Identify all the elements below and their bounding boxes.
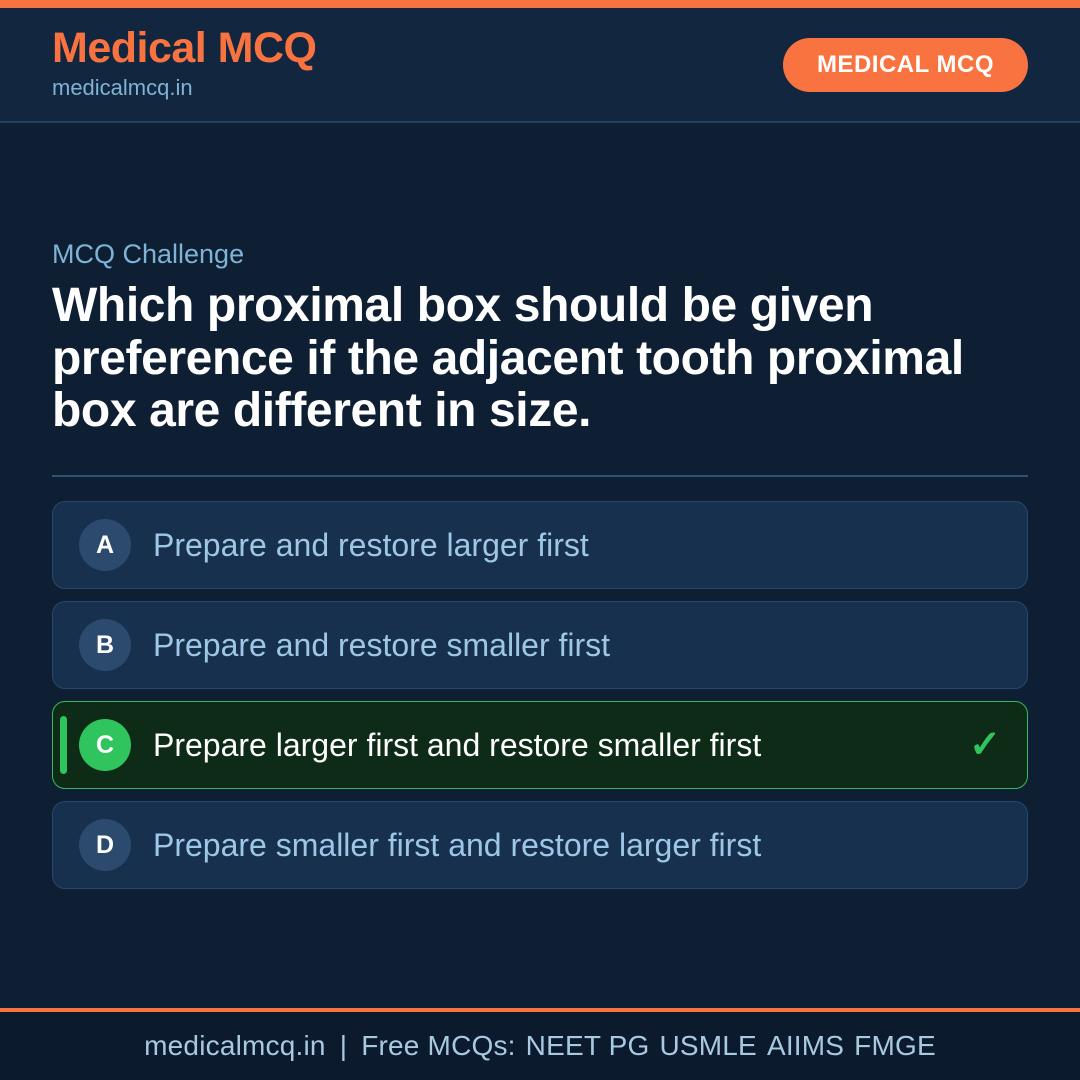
- eyebrow-label: MCQ Challenge: [52, 238, 1028, 270]
- footer-exams: NEET PGUSMLEAIIMSFMGE: [516, 1030, 936, 1061]
- option-label: Prepare larger first and restore smaller…: [153, 726, 953, 764]
- option-row-b[interactable]: B Prepare and restore smaller first ✓: [52, 601, 1028, 689]
- brand-block: Medical MCQ medicalmcq.in: [52, 26, 317, 103]
- footer-text: medicalmcq.in|Free MCQs:NEET PGUSMLEAIIM…: [144, 1030, 936, 1062]
- footer-exam-neetpg[interactable]: NEET PG: [526, 1030, 650, 1061]
- option-letter-badge: A: [79, 519, 131, 571]
- correct-accent-bar: [60, 716, 67, 774]
- footer-site[interactable]: medicalmcq.in: [144, 1030, 326, 1061]
- options-list: A Prepare and restore larger first ✓ B P…: [52, 501, 1028, 889]
- option-row-c[interactable]: C Prepare larger first and restore small…: [52, 701, 1028, 789]
- check-icon: ✓: [969, 726, 1001, 764]
- mcq-card: Medical MCQ medicalmcq.in MEDICAL MCQ MC…: [0, 0, 1080, 1080]
- question-divider: [52, 475, 1028, 477]
- option-row-a[interactable]: A Prepare and restore larger first ✓: [52, 501, 1028, 589]
- footer-exam-fmge[interactable]: FMGE: [854, 1030, 936, 1061]
- footer-exam-usmle[interactable]: USMLE: [659, 1030, 756, 1061]
- option-letter-badge: C: [79, 719, 131, 771]
- brand-title: Medical MCQ: [52, 26, 317, 71]
- option-label: Prepare smaller first and restore larger…: [153, 826, 953, 864]
- footer-separator: |: [326, 1030, 361, 1061]
- footer-exam-aiims[interactable]: AIIMS: [767, 1030, 844, 1061]
- brand-url: medicalmcq.in: [52, 73, 317, 103]
- header: Medical MCQ medicalmcq.in MEDICAL MCQ: [0, 8, 1080, 123]
- option-label: Prepare and restore larger first: [153, 526, 953, 564]
- option-row-d[interactable]: D Prepare smaller first and restore larg…: [52, 801, 1028, 889]
- top-accent-bar: [0, 0, 1080, 8]
- header-badge: MEDICAL MCQ: [783, 38, 1028, 92]
- option-label: Prepare and restore smaller first: [153, 626, 953, 664]
- option-letter-badge: D: [79, 819, 131, 871]
- footer-exams-label: Free MCQs:: [361, 1030, 515, 1061]
- footer: medicalmcq.in|Free MCQs:NEET PGUSMLEAIIM…: [0, 1008, 1080, 1080]
- option-letter-badge: B: [79, 619, 131, 671]
- question-text: Which proximal box should be given prefe…: [52, 280, 1012, 437]
- main-content: MCQ Challenge Which proximal box should …: [0, 123, 1080, 1008]
